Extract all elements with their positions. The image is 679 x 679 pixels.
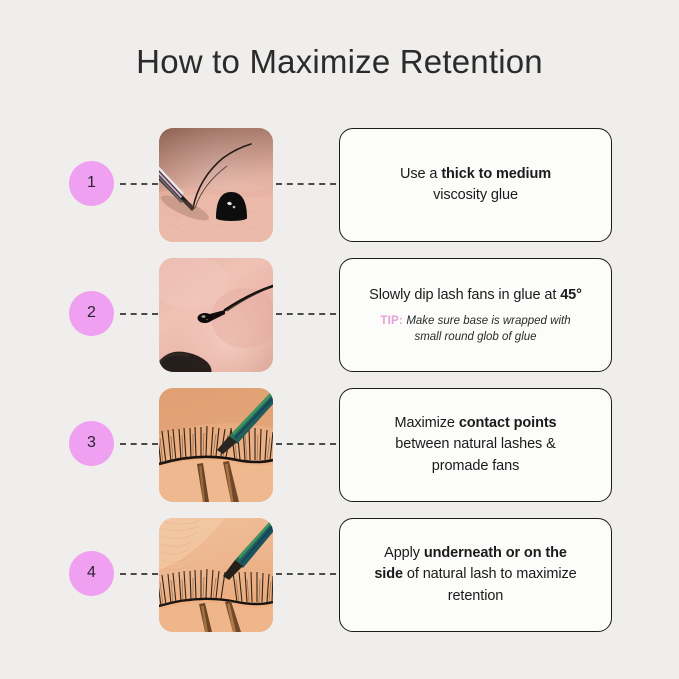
connector-badge-to-photo-4: [120, 573, 158, 575]
step-number-badge-3: 3: [69, 421, 114, 466]
step-number-label: 2: [87, 305, 96, 322]
step-photo-2: [159, 258, 273, 372]
connector-photo-to-card-2: [276, 313, 336, 315]
step-card-1: Use a thick to mediumviscosity glue: [339, 128, 612, 242]
step-photo-1: [159, 128, 273, 242]
connector-badge-to-photo-2: [120, 313, 158, 315]
step-number-label: 3: [87, 435, 96, 452]
step-card-text-4: Apply underneath or on theside of natura…: [374, 543, 576, 606]
step-photo-4: [159, 518, 273, 632]
step-number-label: 4: [87, 565, 96, 582]
step-card-2: Slowly dip lash fans in glue at 45° TIP:…: [339, 258, 612, 372]
step-row-3: 3: [0, 388, 679, 502]
connector-badge-to-photo-1: [120, 183, 158, 185]
tip-line-2: small round glob of glue: [414, 331, 536, 343]
tip-label: TIP:: [380, 315, 406, 327]
step-number-badge-1: 1: [69, 161, 114, 206]
step-row-2: 2: [0, 258, 679, 372]
step-card-tip-2: TIP: Make sure base is wrapped withsmall…: [380, 313, 570, 345]
step-card-3: Maximize contact pointsbetween natural l…: [339, 388, 612, 502]
step-number-badge-4: 4: [69, 551, 114, 596]
step-number-label: 1: [87, 175, 96, 192]
step-row-4: 4: [0, 518, 679, 632]
step-row-1: 1: [0, 128, 679, 242]
connector-photo-to-card-4: [276, 573, 336, 575]
step-card-text-2: Slowly dip lash fans in glue at 45°: [369, 285, 582, 306]
tip-line-1: Make sure base is wrapped with: [406, 315, 570, 327]
connector-photo-to-card-3: [276, 443, 336, 445]
step-photo-3: [159, 388, 273, 502]
page-title: How to Maximize Retention: [0, 42, 679, 82]
infographic-canvas: How to Maximize Retention 1: [0, 0, 679, 679]
step-card-text-3: Maximize contact pointsbetween natural l…: [394, 413, 556, 476]
step-card-4: Apply underneath or on theside of natura…: [339, 518, 612, 632]
step-card-text-1: Use a thick to mediumviscosity glue: [400, 164, 551, 206]
step-number-badge-2: 2: [69, 291, 114, 336]
connector-photo-to-card-1: [276, 183, 336, 185]
connector-badge-to-photo-3: [120, 443, 158, 445]
